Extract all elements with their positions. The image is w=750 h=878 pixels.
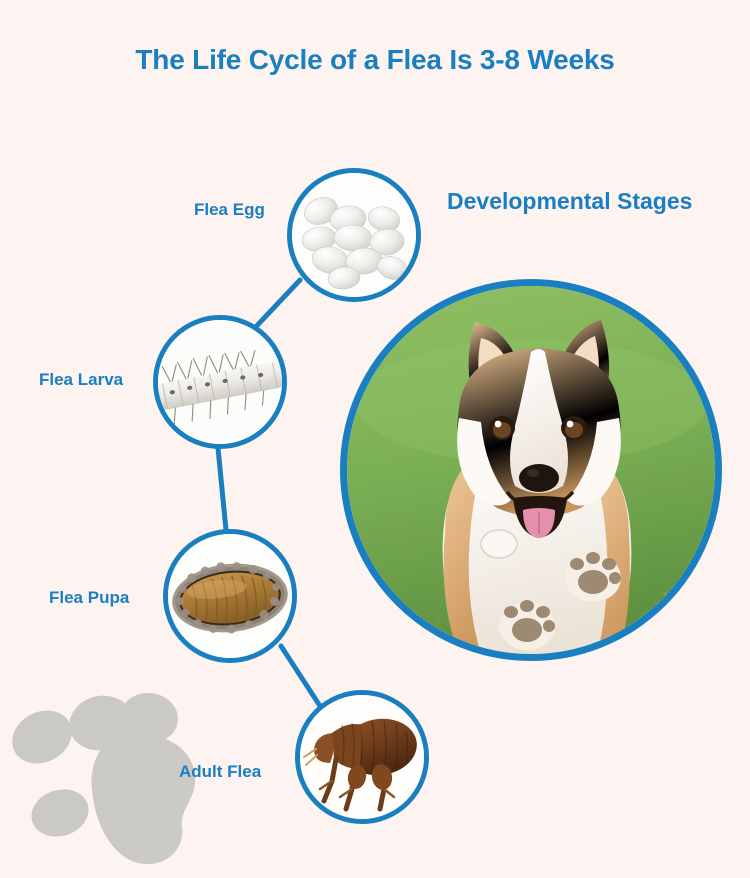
dog-front-paw-left	[499, 600, 555, 650]
flea-egg-photo	[292, 173, 416, 297]
stage-label-flea-larva: Flea Larva	[39, 370, 123, 390]
flea-larva-photo	[158, 320, 282, 444]
infographic-canvas: The Life Cycle of a Flea Is 3-8 Weeks	[0, 0, 750, 878]
stage-bubble-flea-larva[interactable]	[153, 315, 287, 449]
stage-bubble-adult-flea[interactable]	[295, 690, 429, 824]
feature-image-corgi[interactable]	[340, 279, 722, 661]
stage-label-flea-egg: Flea Egg	[194, 200, 265, 220]
dog-front-paw-right	[565, 552, 621, 602]
stage-bubble-flea-pupa[interactable]	[163, 529, 297, 663]
dog-eye-right	[561, 416, 587, 440]
dog-eye-left	[489, 416, 515, 440]
flea-pupa-photo	[168, 534, 292, 658]
paw-print-icon	[3, 689, 195, 864]
stage-bubble-flea-egg[interactable]	[287, 168, 421, 302]
stage-label-adult-flea: Adult Flea	[179, 762, 261, 782]
section-heading-developmental-stages: Developmental Stages	[447, 188, 692, 215]
stage-label-flea-pupa: Flea Pupa	[49, 588, 129, 608]
connector-larva-to-pupa	[218, 448, 226, 530]
corgi-puppy-running-on-grass	[347, 286, 715, 654]
adult-flea-photo	[300, 695, 424, 819]
